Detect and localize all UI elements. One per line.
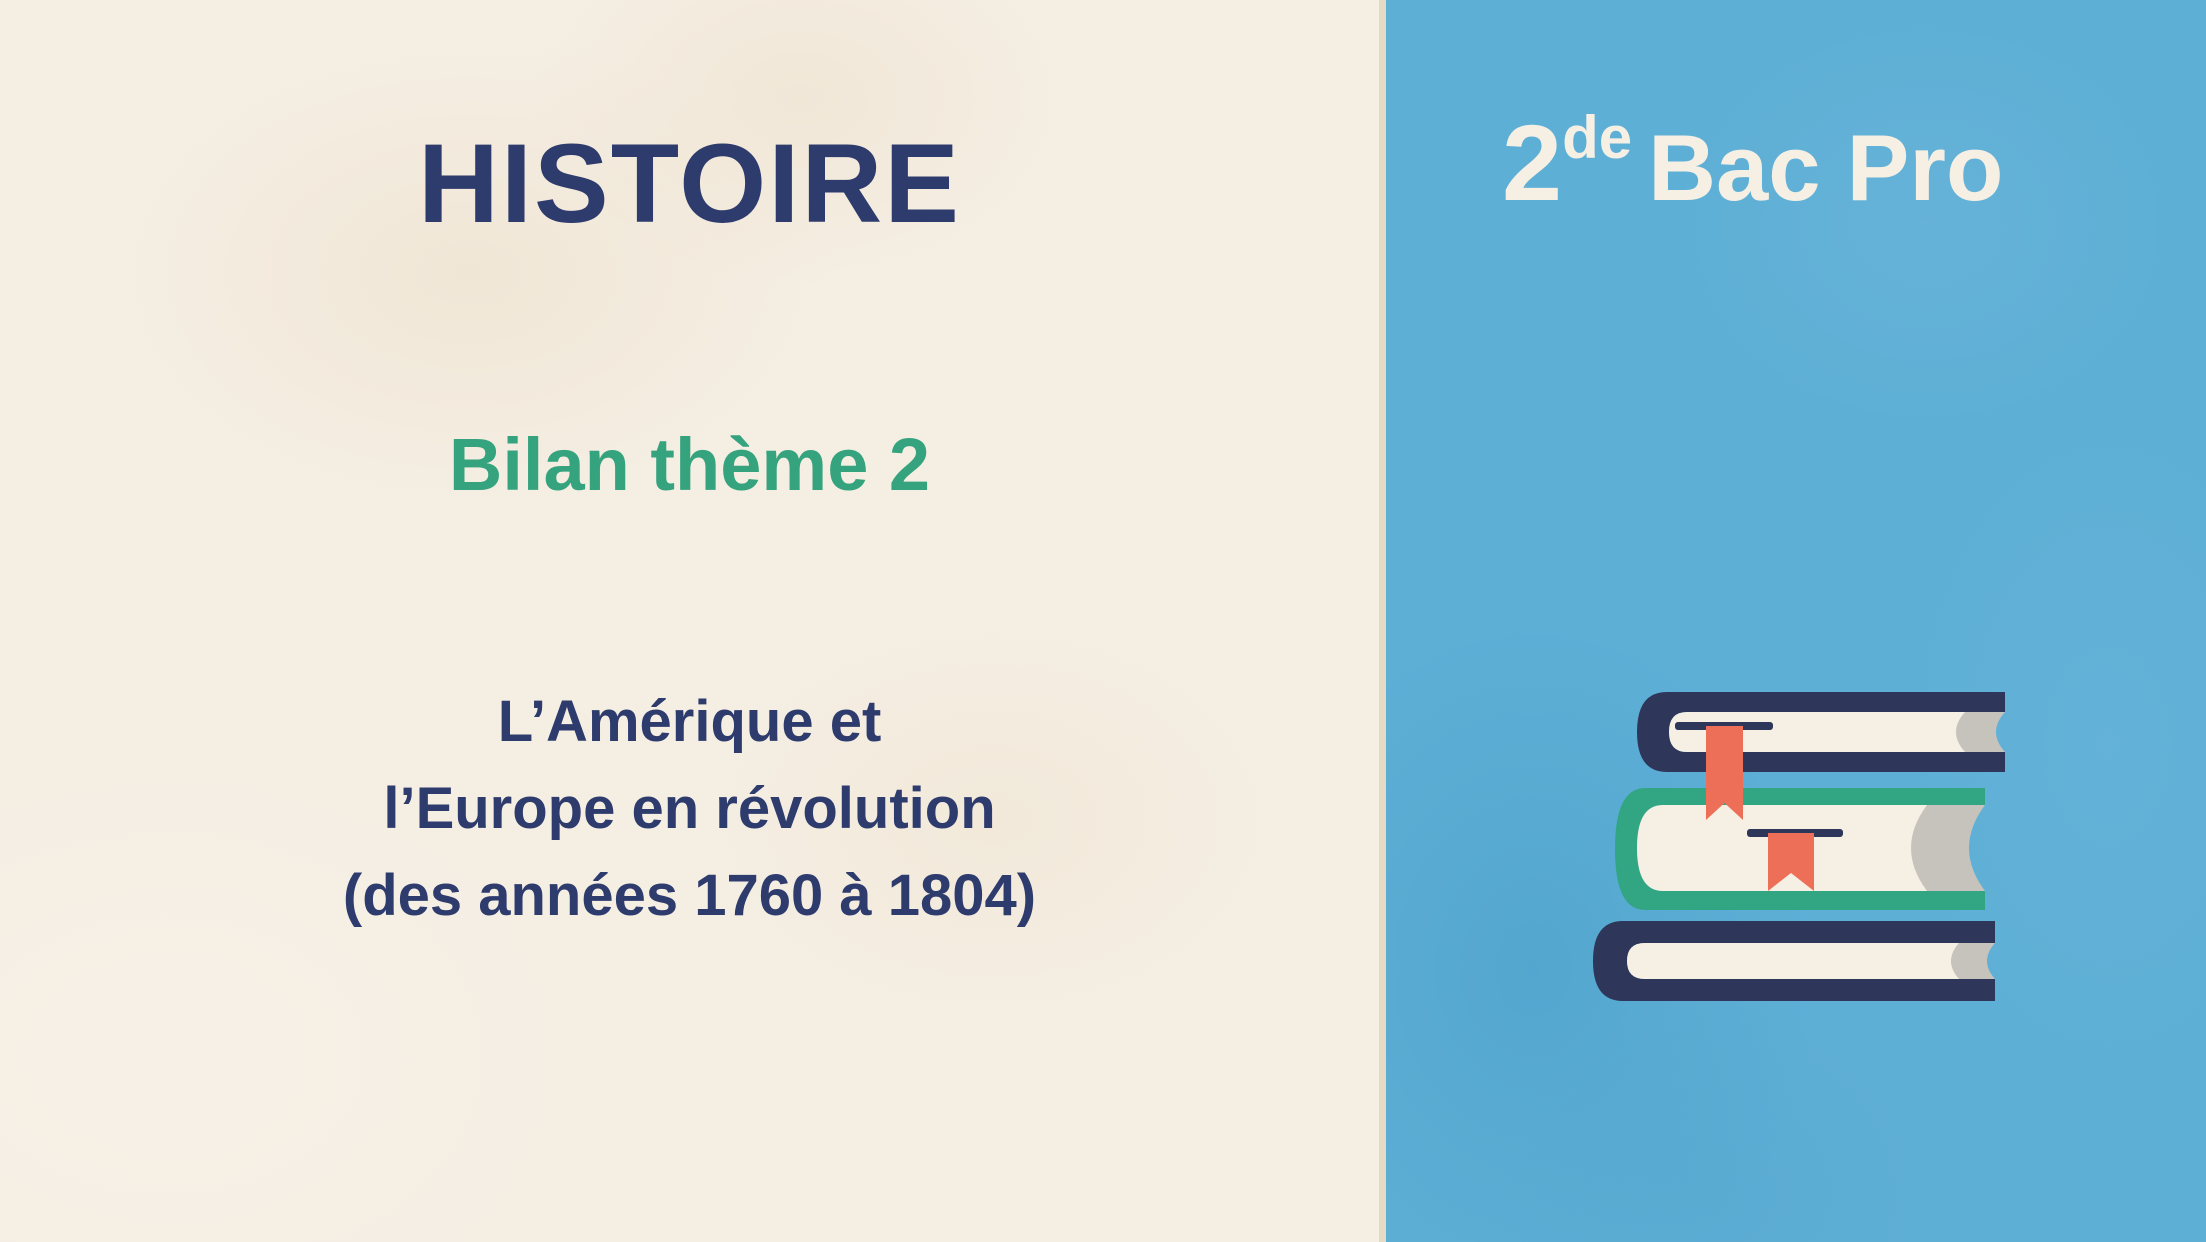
- book-top-page-edge: [1956, 712, 2005, 752]
- description-line-3: (des années 1760 à 1804): [0, 852, 1379, 939]
- book-middle-page-edge: [1911, 805, 1985, 891]
- grade-level-heading: 2deBac Pro: [1502, 108, 2003, 217]
- subtitle-theme: Bilan thème 2: [0, 428, 1379, 502]
- description-line-2: l’Europe en révolution: [0, 765, 1379, 852]
- level-ordinal-suffix: de: [1562, 104, 1632, 171]
- level-number: 2: [1502, 102, 1562, 223]
- slide-canvas: HISTOIRE Bilan thème 2 L’Amérique et l’E…: [0, 0, 2206, 1242]
- book-bottom-page-edge: [1951, 943, 1995, 979]
- level-track: Bac Pro: [1648, 115, 2003, 220]
- book-bottom: [1593, 921, 1995, 1001]
- page-title: HISTOIRE: [0, 128, 1379, 240]
- description-line-1: L’Amérique et: [0, 678, 1379, 765]
- book-middle: [1615, 788, 1985, 910]
- panel-divider: [1379, 0, 1386, 1242]
- lesson-description: L’Amérique et l’Europe en révolution (de…: [0, 678, 1379, 939]
- stack-of-books-icon: [1575, 672, 2025, 1042]
- book-bottom-pages: [1627, 943, 1975, 979]
- stack-of-books-svg: [1575, 672, 2025, 1042]
